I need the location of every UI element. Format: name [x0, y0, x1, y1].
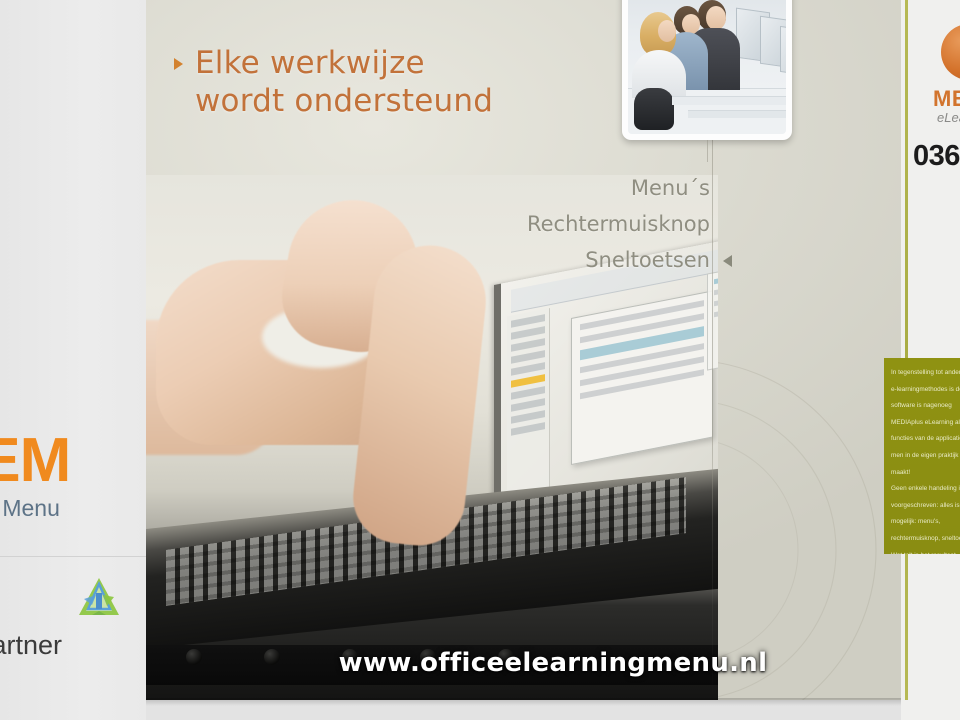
- left-branding-panel: OEM arning Menu ft Partner: [0, 0, 146, 720]
- description-line: MEDIAplus eLearning alle: [891, 418, 954, 428]
- video-frame-stage: OEM arning Menu ft Partner: [0, 0, 960, 720]
- description-line: functies van de applicatie die: [891, 434, 954, 444]
- method-label: Sneltoetsen: [585, 248, 710, 272]
- headline-block: Elke werkwijze wordt ondersteund: [174, 44, 654, 120]
- mediaplus-wordmark: ME: [933, 86, 960, 112]
- mediaplus-circle-icon: [941, 24, 960, 80]
- description-line: maakt!: [891, 468, 954, 478]
- description-line: software is nagenoeg: [891, 401, 954, 411]
- screen-dialog: [571, 290, 713, 465]
- microsoft-partner-label: ft Partner: [0, 630, 62, 661]
- phone-number: 036: [913, 140, 960, 173]
- description-line: voorgeschreven: alles is: [891, 501, 954, 511]
- brand-title: OEM: [0, 430, 144, 492]
- triangle-right-icon: [174, 58, 183, 70]
- method-label: Rechtermuisknop: [527, 212, 710, 236]
- mediaplus-tagline: eLear: [937, 110, 960, 125]
- headline-line-1: Elke werkwijze: [195, 45, 425, 81]
- description-line: In tegenstelling tot andere: [891, 368, 954, 378]
- microsoft-partner-icon: [76, 575, 122, 621]
- green-description-box: In tegenstelling tot andere e-learningme…: [884, 358, 960, 554]
- website-url: www.officeelearningmenu.nl: [146, 648, 960, 678]
- description-line: mogelijk: menu's,: [891, 517, 954, 527]
- brand-subtitle: arning Menu: [0, 494, 144, 522]
- triangle-left-icon: [723, 255, 732, 267]
- description-line: Wat telt is het resultaat.: [891, 551, 954, 554]
- classroom-thumbnail[interactable]: [622, 0, 792, 140]
- method-label: Menu´s: [631, 176, 710, 200]
- description-line: Geen enkele handeling is: [891, 484, 954, 494]
- left-brand-lockup: OEM arning Menu: [0, 430, 144, 522]
- headline-line-2: wordt ondersteund: [195, 82, 493, 120]
- thumbnail-connector-line: [707, 140, 708, 162]
- rail-accent-rule: [905, 0, 908, 700]
- list-item[interactable]: Menu´s: [380, 170, 710, 206]
- mediaplus-logo: ME eLear: [915, 24, 960, 144]
- video-content-area[interactable]: Elke werkwijze wordt ondersteund Menu´s …: [146, 0, 960, 700]
- list-item[interactable]: Rechtermuisknop: [380, 206, 710, 242]
- classroom-training-photo: [628, 0, 786, 134]
- method-list: Menu´s Rechtermuisknop Sneltoetsen: [380, 170, 710, 278]
- list-item[interactable]: Sneltoetsen: [380, 242, 710, 278]
- description-line: men in de eigen praktijk: [891, 451, 954, 461]
- description-line: e-learningmethodes is deze: [891, 385, 954, 395]
- partner-text-fragment: Partner: [0, 630, 62, 660]
- brand-divider: [0, 556, 146, 557]
- headline-text: Elke werkwijze wordt ondersteund: [195, 44, 493, 120]
- description-line: rechtermuisknop, sneltoetsen.: [891, 534, 954, 544]
